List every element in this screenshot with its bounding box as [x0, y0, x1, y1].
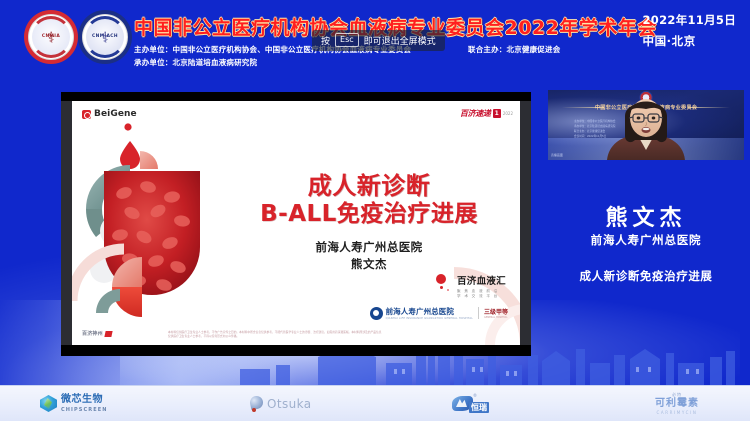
slide-subtitle-org: 前海人寿广州总医院: [224, 239, 514, 255]
sponsor-chipscreen[interactable]: 微芯生物 CHIPSCREEN: [40, 395, 108, 413]
slide-letterbox-top: [61, 92, 531, 101]
sponsor-otsuka[interactable]: Otsuka: [250, 396, 312, 412]
speaker-video-panel[interactable]: 中国非公立医疗机构协会血液病专业委员会 2022 主办单位：中国非公立医疗机构协…: [548, 90, 744, 160]
video-corner-label: 直播画面: [551, 153, 563, 157]
slide-title-line1: 成人新诊断: [224, 173, 514, 201]
speaker-name: 熊文杰: [548, 200, 744, 232]
chipscreen-name-en: CHIPSCREEN: [61, 407, 108, 413]
speaker-org: 前海人寿广州总医院: [548, 232, 744, 248]
chipscreen-logo-icon: [40, 395, 57, 412]
sponsor-carrimycin[interactable]: 必特 可利霉素 CARRIMYCIN: [655, 392, 699, 415]
slide-footer-mark: 百济神州: [82, 330, 112, 337]
hospital-logo-divider: [478, 307, 479, 319]
slide-subtitle-speaker: 熊文杰: [224, 256, 514, 272]
beigene-mark-icon: [82, 110, 91, 119]
baiji-dot-tiny-icon: [447, 289, 449, 291]
esc-key-badge: Esc: [335, 33, 359, 47]
conference-date: 2022年11月5日: [642, 12, 736, 28]
co-organizer-line: 联合主办：北京健康促进会: [468, 44, 560, 55]
baiji-dot-icon: [436, 274, 446, 284]
hengrui-registered-icon: ®: [473, 393, 477, 398]
presentation-slide[interactable]: BeiGene 百济速递 1 2022 成人新诊断 B-ALL免疫治疗进展 前海…: [72, 101, 520, 345]
conference-location: 中国·北京: [642, 33, 736, 49]
hospital-mark-icon: [370, 307, 383, 320]
baiji-tagline-1: 聚 焦 血 液 前 沿: [457, 289, 506, 294]
speaker-webcam-figure: [601, 90, 691, 160]
hospital-logo: 前海人寿广州总医院 QIANHAI LIFE INSURANCE GUANGZH…: [370, 306, 508, 320]
sponsor-bar: 微芯生物 CHIPSCREEN Otsuka ® 恒瑞 必特 可利霉素 CARR…: [0, 385, 750, 421]
conference-date-location: 2022年11月5日 中国·北京: [642, 12, 736, 49]
baiji-blood-logo: 百济血液汇 聚 焦 血 液 前 沿 学 术 交 流 平 台: [436, 273, 506, 299]
hengrui-name-cn: 恒瑞: [469, 402, 489, 413]
baiji-blood-name: 百济血液汇: [457, 273, 506, 287]
fullscreen-hint-suffix: 即可退出全屏模式: [364, 34, 436, 47]
baiji-tagline-2: 学 术 交 流 平 台: [457, 294, 506, 299]
slide-badge-year: 2022: [503, 111, 513, 116]
host-line: 承办单位：北京陆道培血液病研究院: [134, 57, 257, 68]
slide-title: 成人新诊断 B-ALL免疫治疗进展: [224, 173, 514, 228]
slide-letterbox-bottom: [61, 345, 531, 356]
speaker-topic: 成人新诊断免疫治疗进展: [548, 268, 744, 284]
slide-footer-text: 百济神州: [82, 330, 103, 337]
hospital-name: 前海人寿广州总医院: [386, 306, 473, 317]
slide-badge-text: 百济速递: [460, 108, 491, 119]
slide-footer-accent-icon: [104, 331, 112, 337]
slide-subtitle: 前海人寿广州总医院 熊文杰: [224, 239, 514, 272]
cnmiach-emblem: CNMIACH ⚕: [78, 10, 132, 64]
broadcast-stage: CNMIA ⚕ CNMIACH ⚕ 中国非公立医疗机构协会血液病专业委员会202…: [0, 0, 750, 421]
carrimycin-name-en: CARRIMYCIN: [655, 410, 699, 415]
chipscreen-name-cn: 微芯生物: [61, 395, 108, 405]
otsuka-logo-icon: [250, 396, 263, 412]
caduceus-icon: ⚕: [47, 31, 55, 46]
slide-disclaimer: 本材料仅供医疗卫生专业人士参考，不作广告宣传之目的。本材料中所含信息仅供参考，不…: [168, 330, 383, 339]
carrimycin-name-cn: 可利霉素: [655, 398, 699, 409]
slide-series-badge: 百济速递 1 2022: [460, 108, 513, 119]
presentation-slide-frame[interactable]: BeiGene 百济速递 1 2022 成人新诊断 B-ALL免疫治疗进展 前海…: [61, 92, 531, 356]
hospital-grade-en: GENERAL HOSPITAL: [484, 316, 508, 319]
sponsor-hengrui[interactable]: ® 恒瑞: [452, 396, 497, 411]
blood-drop-icon: ⚕: [101, 31, 109, 46]
fullscreen-exit-hint: 按 Esc 即可退出全屏模式: [312, 30, 445, 51]
beigene-logo: BeiGene: [82, 109, 137, 119]
slide-badge-number: 1: [493, 109, 501, 118]
baiji-dot-small-icon: [440, 286, 443, 289]
hospital-name-en: QIANHAI LIFE INSURANCE GUANGZHOU GENERAL…: [386, 317, 473, 320]
beigene-wordmark: BeiGene: [94, 109, 137, 119]
hospital-grade: 三级甲等: [484, 307, 508, 316]
cnmia-emblem: CNMIA ⚕: [24, 10, 78, 64]
fullscreen-hint-prefix: 按: [321, 34, 330, 47]
slide-title-line2: B-ALL免疫治疗进展: [224, 201, 514, 228]
otsuka-name-en: Otsuka: [267, 397, 312, 411]
